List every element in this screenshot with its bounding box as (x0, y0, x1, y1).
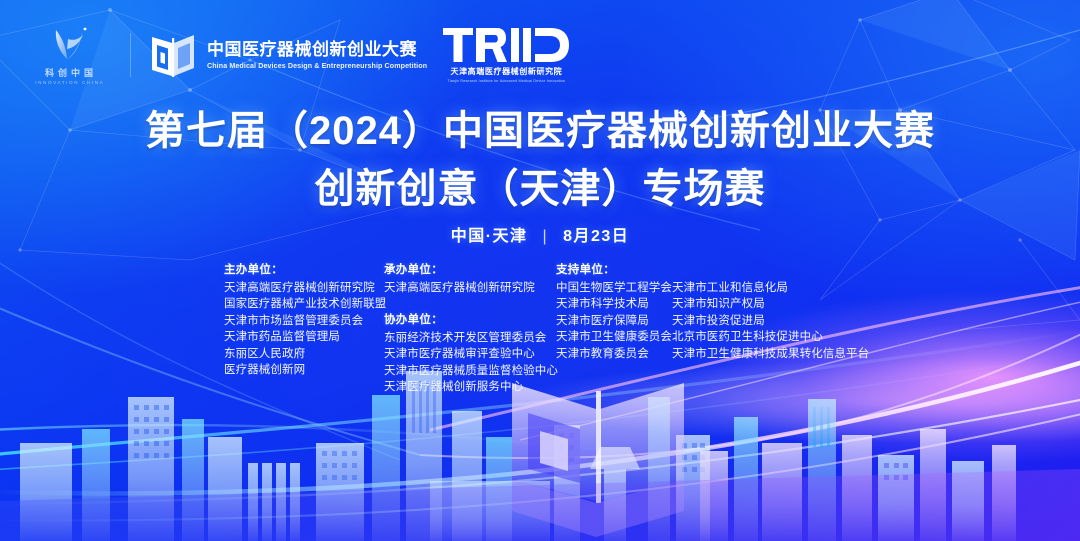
group-item: 天津市科学技术局 (556, 296, 672, 313)
headline-line-1: 第七届（2024）中国医疗器械创新创业大赛 (0, 104, 1080, 158)
open-book-door-mark-icon (149, 29, 197, 81)
supporters-sub-column-right: 天津市工业和信息化局 天津市知识产权局 天津市投资促进局 北京市医药卫生科技促进… (672, 280, 862, 363)
group-item: 天津市药品监督管理局 (224, 329, 384, 346)
organizers-column-3: 支持单位： 中国生物医学工程学会 天津市科学技术局 天津市医疗保障局 天津市卫生… (556, 262, 862, 362)
competition-zh: 中国医疗器械创新创业大赛 (207, 40, 429, 60)
group-title: 承办单位： (384, 262, 556, 279)
group-item: 东丽经济技术开发区管理委员会 (384, 330, 556, 347)
group-item: 天津高端医疗器械创新研究院 (384, 280, 556, 297)
logo-triid: 天津高端医疗器械创新研究院 Tianjin Research Institute… (443, 28, 569, 83)
supporters-sub-column-left: 中国生物医学工程学会 天津市科学技术局 天津市医疗保障局 天津市卫生健康委员会 … (556, 280, 672, 363)
logo-competition: 中国医疗器械创新创业大赛 China Medical Devices Desig… (149, 29, 429, 81)
group-title: 支持单位： (556, 262, 862, 279)
event-location-date: 中国·天津 | 8月23日 (0, 222, 1080, 246)
group-item: 天津市卫生健康科技成果转化信息平台 (672, 346, 862, 363)
poster-canvas: 科创中国 INNOVATION CHINA 中国医疗器械创新创业大赛 China… (0, 0, 1080, 541)
group-host: 主办单位： 天津高端医疗器械创新研究院 国家医疗器械产业技术创新联盟 天津市市场… (224, 262, 384, 379)
triid-en: Tianjin Research Institute for Advanced … (447, 79, 565, 83)
group-item: 东丽区人民政府 (224, 346, 384, 363)
group-organizer: 承办单位： 天津高端医疗器械创新研究院 (384, 262, 556, 296)
innovation-china-en: INNOVATION CHINA (34, 80, 105, 85)
logo-divider-1 (130, 33, 131, 77)
group-item: 北京市医药卫生科技促进中心 (672, 329, 862, 346)
organizers-column-1: 主办单位： 天津高端医疗器械创新研究院 国家医疗器械产业技术创新联盟 天津市市场… (224, 262, 384, 379)
headline: 第七届（2024）中国医疗器械创新创业大赛 创新创意（天津）专场赛 (0, 104, 1080, 216)
bird-mark-icon (46, 26, 92, 62)
logo-innovation-china: 科创中国 INNOVATION CHINA (26, 26, 112, 85)
group-item: 天津医疗器械创新服务中心 (384, 379, 556, 396)
group-item: 天津市医疗保障局 (556, 313, 672, 330)
group-co-organizer: 协办单位： 东丽经济技术开发区管理委员会 天津市医疗器械审评查验中心 天津市医疗… (384, 312, 556, 396)
competition-en: China Medical Devices Design & Entrepren… (207, 61, 427, 70)
triid-zh: 天津高端医疗器械创新研究院 (450, 66, 562, 77)
group-title: 主办单位： (224, 262, 384, 279)
innovation-china-zh: 科创中国 (41, 66, 97, 79)
organizers-block: 主办单位： 天津高端医疗器械创新研究院 国家医疗器械产业技术创新联盟 天津市市场… (224, 262, 960, 396)
triid-wordmark-icon (443, 28, 569, 62)
group-item: 医疗器械创新网 (224, 362, 384, 379)
subline-separator: | (542, 228, 548, 246)
event-date: 8月23日 (563, 228, 629, 245)
group-item: 天津市医疗器械审评查验中心 (384, 346, 556, 363)
group-item: 天津市投资促进局 (672, 313, 862, 330)
group-item: 天津市工业和信息化局 (672, 280, 862, 297)
event-location: 中国·天津 (451, 228, 528, 245)
group-item: 天津市卫生健康委员会 (556, 329, 672, 346)
logo-bar: 科创中国 INNOVATION CHINA 中国医疗器械创新创业大赛 China… (26, 24, 1080, 86)
group-item: 天津市教育委员会 (556, 346, 672, 363)
group-title: 协办单位： (384, 312, 556, 329)
group-item: 天津市医疗器械质量监督检验中心 (384, 363, 556, 380)
group-item: 天津市市场监督管理委员会 (224, 313, 384, 330)
group-item: 国家医疗器械产业技术创新联盟 (224, 296, 384, 313)
group-spacer (384, 296, 556, 312)
headline-line-2: 创新创意（天津）专场赛 (0, 162, 1080, 216)
group-item: 天津高端医疗器械创新研究院 (224, 280, 384, 297)
group-item: 中国生物医学工程学会 (556, 280, 672, 297)
group-item: 天津市知识产权局 (672, 296, 862, 313)
organizers-column-2: 承办单位： 天津高端医疗器械创新研究院 协办单位： 东丽经济技术开发区管理委员会… (384, 262, 556, 396)
